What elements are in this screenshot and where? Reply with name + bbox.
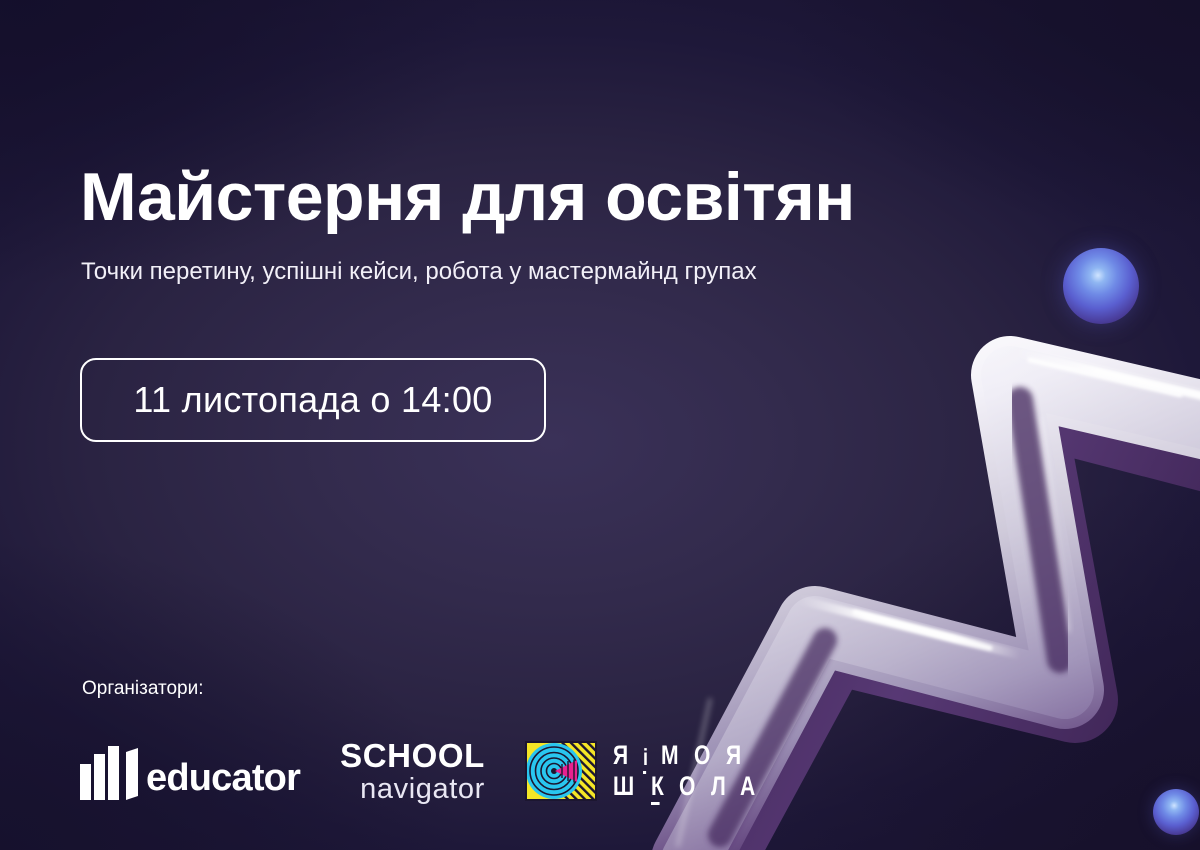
banner-content: Майстерня для освітян Точки перетину, ус… bbox=[0, 0, 1200, 850]
ms-char: К bbox=[651, 773, 664, 800]
event-banner: Майстерня для освітян Точки перетину, ус… bbox=[0, 0, 1200, 850]
ms-char: М bbox=[661, 742, 679, 769]
book-spines-icon bbox=[80, 746, 144, 800]
page-subtitle: Точки перетину, успішні кейси, робота у … bbox=[81, 256, 757, 288]
ms-char: А bbox=[740, 773, 755, 800]
ms-line-1: Я і М О Я bbox=[613, 743, 760, 769]
ms-line-2: Ш К О Л А bbox=[613, 774, 760, 800]
ms-char: О bbox=[679, 773, 695, 800]
logo-school-navigator[interactable]: SCHOOL navigator bbox=[340, 739, 485, 804]
school-navigator-line2: navigator bbox=[360, 775, 485, 804]
school-navigator-line1: SCHOOL bbox=[340, 739, 485, 772]
logo-educator[interactable]: educator bbox=[80, 742, 300, 800]
ms-char: Я bbox=[726, 742, 741, 769]
event-date-pill[interactable]: 11 листопада о 14:00 bbox=[80, 358, 546, 442]
ms-char: Ш bbox=[613, 773, 634, 800]
ms-char: О bbox=[694, 742, 710, 769]
organizers-label: Організатори: bbox=[82, 678, 204, 700]
ms-char: Я bbox=[613, 742, 628, 769]
educator-wordmark: educator bbox=[146, 759, 300, 797]
ms-char: Л bbox=[711, 773, 726, 800]
page-title: Майстерня для освітян bbox=[80, 158, 855, 236]
logo-ya-i-moya-shkola[interactable]: Я і М О Я Ш К О Л А bbox=[525, 741, 760, 801]
organizers-logo-row: educator SCHOOL navigator bbox=[80, 733, 760, 809]
target-hatched-square-icon bbox=[525, 741, 597, 801]
event-date-text: 11 листопада о 14:00 bbox=[133, 379, 492, 421]
ms-char: і bbox=[643, 746, 648, 769]
ya-i-moya-shkola-wordmark: Я і М О Я Ш К О Л А bbox=[613, 743, 760, 800]
